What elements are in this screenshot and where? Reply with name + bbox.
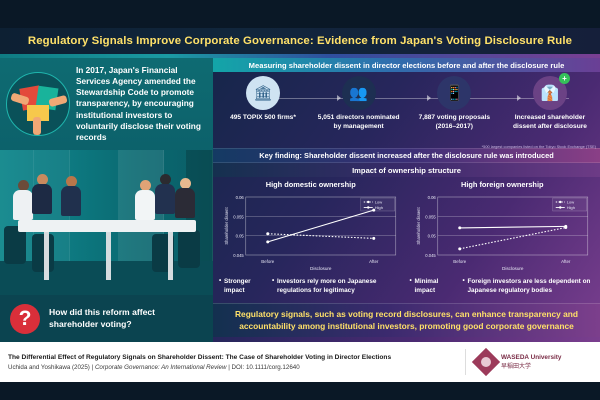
timeline-step: 📱 7,887 voting proposals (2016–2017) xyxy=(410,76,498,131)
svg-text:Low: Low xyxy=(375,200,382,205)
bullets-row: Stronger impact Investors rely more on J… xyxy=(213,277,600,303)
citation-sep2: | xyxy=(228,364,230,371)
waseda-logo: WASEDA University 早稲田大学 xyxy=(465,349,600,375)
svg-text:0.055: 0.055 xyxy=(425,214,436,219)
key-finding-text: Key finding: Shareholder dissent increas… xyxy=(259,151,553,160)
svg-text:0.05: 0.05 xyxy=(236,234,245,239)
svg-text:Before: Before xyxy=(261,259,274,264)
svg-text:Shareholder dissent: Shareholder dissent xyxy=(224,207,229,245)
stock-exchange-building-icon: 🏛 xyxy=(246,76,280,110)
timeline-step: 👥 5,051 directors nominated by managemen… xyxy=(315,76,403,131)
poster-title-bar: Regulatory Signals Improve Corporate Gov… xyxy=(0,28,600,54)
mobile-voting-icon: 📱 xyxy=(437,76,471,110)
right-column: Measuring shareholder dissent in directo… xyxy=(213,58,600,342)
infographic-poster: Regulatory Signals Improve Corporate Gov… xyxy=(0,0,600,400)
measuring-heading-band: Measuring shareholder dissent in directo… xyxy=(213,58,600,72)
board-of-directors-icon: 👥 xyxy=(342,76,376,110)
conclusion-text: Regulatory signals, such as voting recor… xyxy=(223,309,590,333)
svg-text:High: High xyxy=(375,205,383,210)
svg-text:0.045: 0.045 xyxy=(233,253,244,258)
svg-text:Before: Before xyxy=(453,259,466,264)
question-text: How did this reform affect shareholder v… xyxy=(49,307,203,330)
key-finding-band: Key finding: Shareholder dissent increas… xyxy=(213,148,600,163)
question-block: ? How did this reform affect shareholder… xyxy=(0,295,213,342)
bottom-strip xyxy=(0,382,600,400)
timeline-step-label: 5,051 directors nominated by management xyxy=(315,114,403,131)
citation-sep: | xyxy=(92,364,94,371)
svg-text:0.045: 0.045 xyxy=(425,253,436,258)
footer: The Differential Effect of Regulatory Si… xyxy=(0,342,600,382)
svg-text:0.06: 0.06 xyxy=(236,195,245,200)
page-title: Regulatory Signals Improve Corporate Gov… xyxy=(28,35,572,47)
chart-domestic: High domestic ownership 0.0450.050.0550.… xyxy=(219,180,403,277)
svg-text:Disclosure: Disclosure xyxy=(502,266,524,271)
chart-title: High domestic ownership xyxy=(219,180,403,189)
timeline-step: 👔 + Increased shareholder dissent after … xyxy=(506,76,594,131)
waseda-diamond-logo xyxy=(472,348,500,376)
line-plot: 0.0450.050.0550.06Shareholder dissentBef… xyxy=(219,191,403,273)
bullet-impact-right: Minimal impact xyxy=(410,278,458,296)
timeline-step-label: 495 TOPIX 500 firms* xyxy=(219,114,307,123)
methodology-timeline: 🏛 495 TOPIX 500 firms* 👥 5,051 directors… xyxy=(213,72,600,148)
impact-heading: Impact of ownership structure xyxy=(352,166,461,175)
svg-text:After: After xyxy=(369,259,379,264)
svg-text:Low: Low xyxy=(566,200,573,205)
boardroom-meeting-illustration xyxy=(0,150,213,295)
question-mark-icon: ? xyxy=(10,304,40,334)
svg-text:0.06: 0.06 xyxy=(427,195,436,200)
timeline-step-label: Increased shareholder dissent after disc… xyxy=(506,114,594,131)
intro-block: In 2017, Japan's Financial Services Agen… xyxy=(0,58,213,150)
citation: Uchida and Yoshikawa (2025) | Corporate … xyxy=(8,364,465,371)
logo-text-en: WASEDA University xyxy=(501,354,562,361)
top-strip xyxy=(0,0,600,28)
svg-text:After: After xyxy=(561,259,571,264)
handshake-icon xyxy=(6,72,70,136)
svg-text:0.055: 0.055 xyxy=(233,214,244,219)
bullet-detail-left: Investors rely more on Japanese regulati… xyxy=(272,278,404,296)
conclusion-banner: Regulatory signals, such as voting recor… xyxy=(213,303,600,337)
intro-text: In 2017, Japan's Financial Services Agen… xyxy=(76,65,205,143)
impact-heading-band: Impact of ownership structure xyxy=(213,163,600,177)
citation-authors: Uchida and Yoshikawa (2025) xyxy=(8,364,90,371)
line-plot: 0.0450.050.0550.06Shareholder dissentBef… xyxy=(411,191,595,273)
measuring-heading: Measuring shareholder dissent in directo… xyxy=(249,61,565,70)
svg-text:Disclosure: Disclosure xyxy=(310,266,332,271)
bullet-detail-right: Foreign investors are less dependent on … xyxy=(463,278,595,296)
plus-badge-icon: + xyxy=(559,73,570,84)
logo-text-jp: 早稲田大学 xyxy=(501,361,562,370)
bullet-impact-left: Stronger impact xyxy=(219,278,267,296)
paper-title: The Differential Effect of Regulatory Si… xyxy=(8,354,465,361)
chart-foreign: High foreign ownership 0.0450.050.0550.0… xyxy=(411,180,595,277)
left-column: In 2017, Japan's Financial Services Agen… xyxy=(0,58,213,342)
timeline-step: 🏛 495 TOPIX 500 firms* xyxy=(219,76,307,131)
chart-title: High foreign ownership xyxy=(411,180,595,189)
svg-text:High: High xyxy=(566,205,574,210)
shareholders-approval-icon: 👔 + xyxy=(533,76,567,110)
charts-row: High domestic ownership 0.0450.050.0550.… xyxy=(213,177,600,277)
timeline-footnote: *500 largest companies listed on the Tok… xyxy=(482,144,596,149)
svg-text:Shareholder dissent: Shareholder dissent xyxy=(415,207,420,245)
svg-text:0.05: 0.05 xyxy=(427,234,436,239)
citation-journal: Corporate Governance: An International R… xyxy=(95,364,227,371)
timeline-step-label: 7,887 voting proposals (2016–2017) xyxy=(410,114,498,131)
citation-doi[interactable]: DOI: 10.1111/corg.12640 xyxy=(232,364,300,371)
